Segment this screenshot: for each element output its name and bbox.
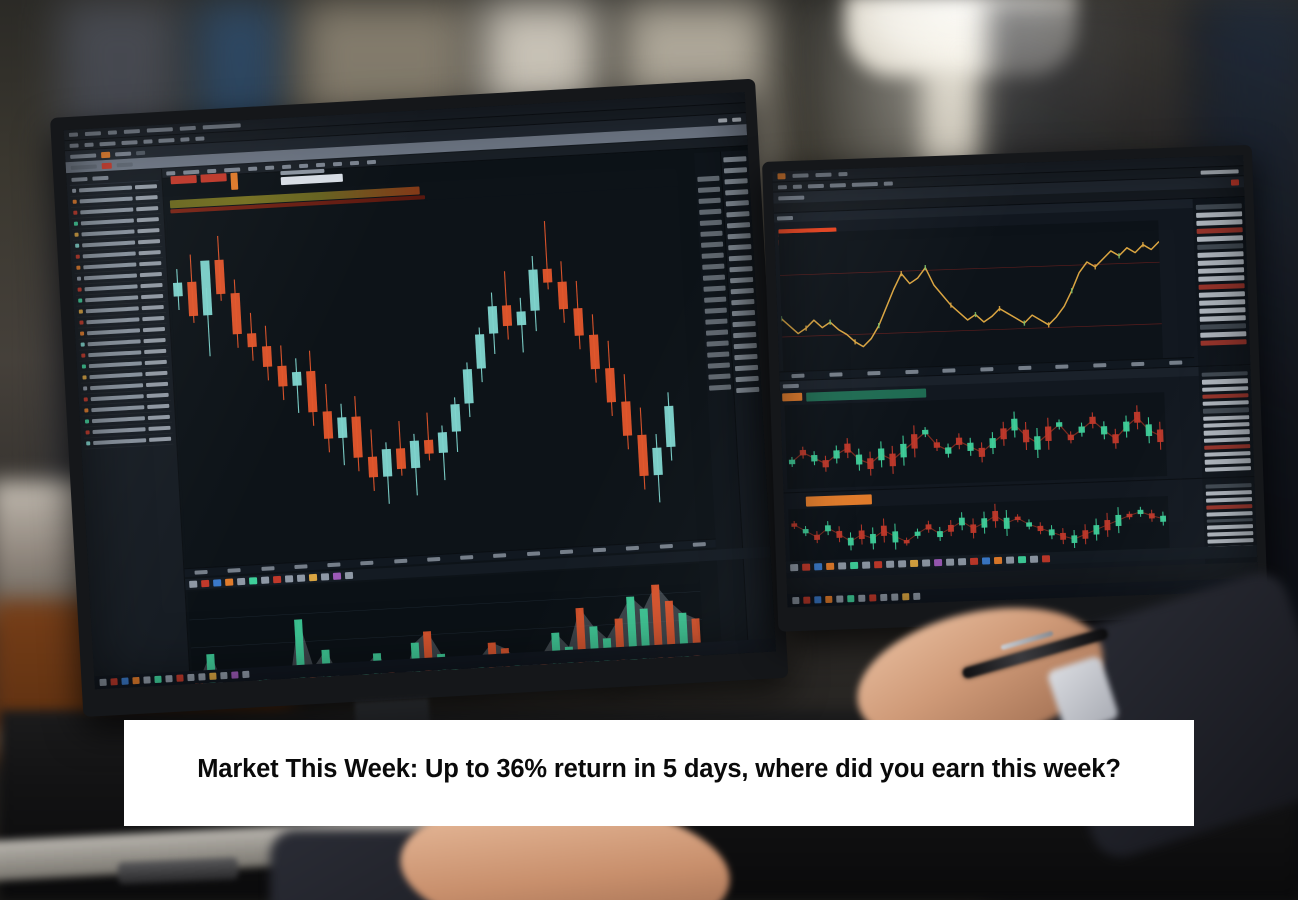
taskbar-icon[interactable] <box>237 578 245 585</box>
taskbar-icon[interactable] <box>143 676 150 683</box>
ladder-row[interactable] <box>1207 531 1253 537</box>
watchlist-status-icon <box>86 441 90 445</box>
time-axis-tick <box>568 687 581 689</box>
price-axis-tick <box>733 332 756 338</box>
toolbar-settings-icon[interactable] <box>195 136 204 140</box>
toolbar-right-icon-4[interactable] <box>830 183 846 188</box>
taskbar-icon[interactable] <box>869 594 876 601</box>
watchlist-symbol <box>83 251 136 258</box>
taskbar-icon[interactable] <box>231 671 238 678</box>
taskbar-icon[interactable] <box>187 674 194 681</box>
toolbar-timeframe-icon[interactable] <box>158 138 174 143</box>
taskbar-icon[interactable] <box>970 557 978 564</box>
price-axis-tick <box>729 266 752 272</box>
price-axis-tick <box>728 233 751 239</box>
price-axis-tick <box>735 365 758 371</box>
ladder-row[interactable] <box>1206 490 1252 496</box>
taskbar-icon[interactable] <box>814 563 822 570</box>
toolbar-open-icon[interactable] <box>84 142 93 146</box>
watchlist-symbol <box>91 405 144 412</box>
taskbar-icon[interactable] <box>220 672 227 679</box>
screen-right[interactable] <box>772 155 1258 607</box>
watchlist-price <box>144 349 166 354</box>
time-axis-tick <box>829 372 842 376</box>
toolbar-right-icon-3[interactable] <box>808 183 824 188</box>
taskbar-icon[interactable] <box>99 679 106 686</box>
quote-readout <box>280 168 343 185</box>
watchlist-price <box>136 195 158 200</box>
taskbar-icon[interactable] <box>982 557 990 564</box>
ladder-row[interactable] <box>1197 251 1243 258</box>
toolbar-right-icon-2[interactable] <box>793 184 802 188</box>
mid-candlestick-plot <box>785 392 1168 489</box>
watchlist-status-icon <box>77 277 81 281</box>
time-axis-tick <box>261 566 274 571</box>
watchlist-symbol <box>91 394 144 401</box>
quote-last-price <box>281 174 343 185</box>
taskbar-icon[interactable] <box>154 676 161 683</box>
screen-left[interactable] <box>64 92 776 689</box>
dom-tick <box>709 384 731 390</box>
watchlist-symbol <box>90 383 143 390</box>
taskbar-icon[interactable] <box>898 560 906 567</box>
time-axis-tick <box>493 553 506 558</box>
ladder-row[interactable] <box>1203 400 1249 406</box>
dom-tick <box>700 231 722 237</box>
taskbar-icon[interactable] <box>1030 555 1038 562</box>
time-axis-tick <box>195 570 208 575</box>
mid-panel-title <box>783 383 799 388</box>
dom-tick <box>701 242 723 248</box>
dom-tick <box>704 297 726 303</box>
taskbar-icon[interactable] <box>309 574 317 581</box>
time-axis-tick <box>1131 362 1144 366</box>
watchlist-status-icon <box>81 353 85 357</box>
price-axis-tick <box>730 277 753 283</box>
ladder-row[interactable] <box>1203 422 1249 428</box>
watchlist-symbol <box>88 350 141 357</box>
watchlist-symbol <box>92 416 145 423</box>
menu-item-help[interactable] <box>180 126 196 131</box>
watchlist-price <box>140 283 162 288</box>
time-axis-tick <box>327 562 340 567</box>
watchlist-status-icon <box>73 200 77 204</box>
ladder-row[interactable] <box>1206 511 1252 517</box>
order-ladder-top[interactable] <box>1193 197 1251 366</box>
watchlist-price <box>148 426 170 431</box>
taskbar-icon[interactable] <box>790 563 798 570</box>
tab-positions[interactable] <box>136 150 145 154</box>
menu-item-view[interactable] <box>85 131 101 136</box>
watchlist-price <box>138 239 160 244</box>
watchlist-status-icon <box>78 298 82 302</box>
taskbar-icon[interactable] <box>803 597 810 604</box>
dom-tick <box>705 308 727 314</box>
chart-tool-tf-5m[interactable] <box>265 165 274 169</box>
taskbar-icon[interactable] <box>913 593 920 600</box>
price-axis-tick <box>731 299 754 305</box>
tab-active-chart[interactable] <box>71 164 97 169</box>
ladder-row[interactable] <box>1205 459 1251 465</box>
menu-item-file[interactable] <box>69 132 78 136</box>
taskbar-icon[interactable] <box>213 579 221 586</box>
watchlist-status-icon <box>84 397 88 401</box>
toolbar-zoom-icon[interactable] <box>180 137 189 141</box>
watchlist-status-icon <box>83 386 87 390</box>
taskbar-icon[interactable] <box>847 595 854 602</box>
taskbar-icon[interactable] <box>825 596 832 603</box>
taskbar-icon[interactable] <box>209 673 216 680</box>
taskbar-icon[interactable] <box>261 576 269 583</box>
price-axis-tick <box>724 167 747 173</box>
trading-terminal-left[interactable] <box>64 92 776 689</box>
ladder-row[interactable] <box>1204 437 1250 443</box>
price-axis-tick <box>723 156 746 162</box>
ladder-row[interactable] <box>1202 393 1248 399</box>
chart-tool-tf-1m[interactable] <box>248 166 257 170</box>
taskbar-icon[interactable] <box>201 580 209 587</box>
watchlist-price <box>148 415 170 420</box>
taskbar-icon[interactable] <box>838 562 846 569</box>
taskbar-icon[interactable] <box>345 572 353 579</box>
taskbar-icon[interactable] <box>1042 555 1050 562</box>
watchlist-price <box>137 228 159 233</box>
ladder-row[interactable] <box>1206 483 1252 489</box>
watchlist-symbol <box>86 317 139 324</box>
ladder-row[interactable] <box>1206 497 1252 503</box>
watchlist-price <box>145 371 167 376</box>
ladder-row[interactable] <box>1207 538 1253 544</box>
taskbar-icon[interactable] <box>836 595 843 602</box>
menu-item-account[interactable] <box>203 123 241 129</box>
time-axis-tick <box>1056 364 1069 368</box>
ladder-row[interactable] <box>1197 243 1243 250</box>
chart-tool-tf-1w[interactable] <box>316 162 325 166</box>
watchlist-symbol <box>88 339 141 346</box>
watchlist-price <box>137 217 159 222</box>
dom-tick <box>708 373 730 379</box>
tab-alert-icon[interactable] <box>101 151 110 157</box>
ladder-row[interactable] <box>1200 331 1246 338</box>
ladder-row[interactable] <box>1197 235 1243 242</box>
ladder-row[interactable] <box>1206 504 1252 510</box>
taskbar-icon[interactable] <box>285 575 293 582</box>
chart-tool-tf-1mo[interactable] <box>333 161 342 165</box>
taskbar-icon[interactable] <box>121 677 128 684</box>
ladder-row[interactable] <box>1204 451 1250 457</box>
dom-tick <box>707 340 729 346</box>
ladder-row[interactable] <box>1200 315 1246 322</box>
taskbar-icon[interactable] <box>198 673 205 680</box>
taskbar-icon[interactable] <box>132 677 139 684</box>
price-axis-tick <box>727 222 750 228</box>
time-axis-tick <box>626 546 639 551</box>
toolbar-right-icon-5[interactable] <box>852 181 878 186</box>
taskbar-icon[interactable] <box>902 593 909 600</box>
watchlist-symbol <box>93 438 146 445</box>
watchlist-symbol <box>81 229 134 236</box>
chart-tool-tf-max[interactable] <box>367 159 376 163</box>
dom-tick <box>706 329 728 335</box>
watchlist-price <box>139 261 161 266</box>
taskbar-icon[interactable] <box>792 597 799 604</box>
watchlist-symbol <box>84 273 137 280</box>
price-axis-tick <box>724 178 747 184</box>
monitor-left <box>50 79 788 717</box>
watchlist-price <box>145 360 167 365</box>
tab-right-close-icon[interactable] <box>1231 179 1239 185</box>
time-axis-tick <box>1093 363 1106 367</box>
ladder-row[interactable] <box>1207 525 1253 531</box>
ladder-row[interactable] <box>1199 307 1245 314</box>
taskbar-icon[interactable] <box>886 560 894 567</box>
watchlist-symbol <box>80 207 133 214</box>
taskbar-icon[interactable] <box>862 561 870 568</box>
taskbar-icon[interactable] <box>874 561 882 568</box>
taskbar-icon[interactable] <box>321 573 329 580</box>
time-axis-tick <box>659 544 672 549</box>
trading-terminal-right[interactable] <box>772 155 1258 607</box>
toolbar-draw-icon[interactable] <box>143 139 152 143</box>
tab-close-icon[interactable] <box>102 162 112 169</box>
time-axis-tick <box>560 549 573 554</box>
watchlist-price <box>140 272 162 277</box>
toolbar-indicator-icon[interactable] <box>121 140 137 145</box>
menu-item-tools[interactable] <box>124 129 140 134</box>
taskbar-icon[interactable] <box>994 556 1002 563</box>
tab-market-watch[interactable] <box>70 153 96 158</box>
toolbar-chart-icon[interactable] <box>99 141 115 146</box>
watchlist-status-icon <box>79 309 83 313</box>
taskbar-icon[interactable] <box>814 596 821 603</box>
ladder-row[interactable] <box>1202 371 1248 377</box>
watchlist-status-icon <box>79 320 83 324</box>
taskbar-icon[interactable] <box>1006 556 1014 563</box>
taskbar-icon[interactable] <box>249 577 257 584</box>
watchlist-status-icon <box>75 244 79 248</box>
app-logo-icon <box>777 173 785 179</box>
order-buttons[interactable] <box>170 173 238 194</box>
taskbar-icon[interactable] <box>922 559 930 566</box>
chart-area-left[interactable] <box>162 136 776 684</box>
taskbar-icon[interactable] <box>273 576 281 583</box>
watchlist-symbol <box>83 262 136 269</box>
taskbar-icon[interactable] <box>110 678 117 685</box>
dom-tick <box>699 209 721 215</box>
ladder-row[interactable] <box>1201 339 1247 346</box>
taskbar-icon[interactable] <box>189 581 197 588</box>
chart-tool-type-icon[interactable] <box>224 167 240 172</box>
ladder-row[interactable] <box>1197 227 1243 234</box>
watchlist-price <box>149 437 171 442</box>
time-axis-tick <box>693 542 706 547</box>
toolbar-right-icon-6[interactable] <box>884 181 893 185</box>
ladder-row[interactable] <box>1198 275 1244 282</box>
chart-tool-tf-1d[interactable] <box>299 163 308 167</box>
price-axis-tick <box>736 376 759 382</box>
taskbar-icon[interactable] <box>1018 556 1026 563</box>
tab-orders[interactable] <box>115 151 131 156</box>
line-chart-panel[interactable] <box>774 196 1251 380</box>
chart-tool-fib-icon[interactable] <box>207 168 216 172</box>
chart-tool-tf-1h[interactable] <box>282 164 291 168</box>
watchlist-price <box>143 338 165 343</box>
watchlist-status-icon <box>81 342 85 346</box>
ladder-row[interactable] <box>1198 267 1244 274</box>
price-axis-tick <box>732 310 755 316</box>
ladder-row[interactable] <box>1204 444 1250 450</box>
ladder-row[interactable] <box>1205 466 1251 472</box>
monitor-right <box>762 145 1268 632</box>
ladder-row[interactable] <box>1199 291 1245 298</box>
line-panel-title <box>777 215 793 220</box>
ladder-row[interactable] <box>1198 259 1244 266</box>
taskbar-icon[interactable] <box>934 558 942 565</box>
taskbar-icon[interactable] <box>176 674 183 681</box>
time-axis-tick <box>460 555 473 560</box>
watchlist-price <box>143 327 165 332</box>
watchlist-symbol <box>89 372 142 379</box>
taskbar-icon[interactable] <box>910 559 918 566</box>
watchlist-price <box>136 206 158 211</box>
ladder-row[interactable] <box>1196 211 1242 218</box>
taskbar-icon[interactable] <box>165 675 172 682</box>
bottom-panel-banner <box>806 494 872 506</box>
taskbar-icon[interactable] <box>802 563 810 570</box>
watchlist-price <box>146 382 168 387</box>
buy-button[interactable] <box>200 173 226 182</box>
time-axis-tick <box>867 371 880 375</box>
dom-tick <box>707 351 729 357</box>
ladder-row[interactable] <box>1204 429 1250 435</box>
time-axis-tick <box>361 561 374 566</box>
time-axis-tick <box>427 557 440 562</box>
watchlist-status-icon <box>72 189 76 193</box>
watchlist-price <box>147 404 169 409</box>
tab-secondary[interactable] <box>117 162 133 167</box>
watchlist-status-icon <box>82 375 86 379</box>
chart-tool-tf-ytd[interactable] <box>350 160 359 164</box>
watchlist-price <box>135 184 157 189</box>
ladder-row[interactable] <box>1207 518 1253 524</box>
dom-tick <box>703 286 725 292</box>
ladder-row[interactable] <box>1202 378 1248 384</box>
ladder-row[interactable] <box>1199 299 1245 306</box>
order-ladder-mid[interactable] <box>1198 365 1254 478</box>
watchlist-price <box>142 305 164 310</box>
account-balance-readout <box>1201 169 1239 174</box>
menu-item-window[interactable] <box>147 127 173 132</box>
watchlist-symbol <box>81 218 134 225</box>
ladder-row[interactable] <box>1203 415 1249 421</box>
tab-maximize-icon[interactable] <box>732 117 741 121</box>
watchlist-symbol <box>85 295 138 302</box>
watchlist-status-icon <box>85 430 89 434</box>
time-axis-tick <box>943 368 956 372</box>
watchlist-symbol <box>79 186 132 193</box>
ladder-row[interactable] <box>1199 283 1245 290</box>
caption-banner: Market This Week: Up to 36% return in 5 … <box>124 720 1194 826</box>
taskbar-icon[interactable] <box>946 558 954 565</box>
time-axis-tick <box>980 367 993 371</box>
toolbar-right-icon-1[interactable] <box>778 185 787 189</box>
price-axis-tick <box>734 354 757 360</box>
time-axis-tick <box>527 551 540 556</box>
watchlist-symbol <box>85 284 138 291</box>
watchlist-col-symbol <box>71 177 87 182</box>
price-axis-tick <box>732 321 755 327</box>
candlestick-panel-mid[interactable] <box>780 364 1255 492</box>
watchlist-status-icon <box>74 233 78 237</box>
price-axis-tick <box>725 189 748 195</box>
tab-right-watch[interactable] <box>778 195 804 200</box>
menu-item-tools-right[interactable] <box>838 172 847 176</box>
ladder-row[interactable] <box>1202 386 1248 392</box>
watchlist-status-icon <box>85 419 89 423</box>
taskbar-icon[interactable] <box>850 561 858 568</box>
taskbar-icon[interactable] <box>958 558 966 565</box>
dom-tick <box>703 275 725 281</box>
caption-text: Market This Week: Up to 36% return in 5 … <box>197 753 1121 785</box>
watchlist-status-icon <box>78 288 82 292</box>
price-axis-tick <box>734 343 757 349</box>
watchlist-status-icon <box>82 364 86 368</box>
sell-button[interactable] <box>170 175 196 184</box>
ladder-row[interactable] <box>1200 323 1246 330</box>
taskbar-icon[interactable] <box>225 579 233 586</box>
taskbar-icon[interactable] <box>242 671 249 678</box>
taskbar-icon[interactable] <box>826 562 834 569</box>
price-axis-tick <box>731 288 754 294</box>
watchlist-symbol <box>92 427 145 434</box>
chart-tool-trend-icon[interactable] <box>183 169 199 174</box>
watchlist-status-icon <box>74 222 78 226</box>
price-axis-tick <box>726 211 749 217</box>
dom-tick <box>708 362 730 368</box>
taskbar-icon[interactable] <box>880 594 887 601</box>
ladder-row[interactable] <box>1196 203 1242 210</box>
taskbar-icon[interactable] <box>891 594 898 601</box>
tab-minimize-icon[interactable] <box>718 118 727 122</box>
watchlist-price <box>141 294 163 299</box>
ladder-row[interactable] <box>1203 408 1249 414</box>
chart-tool-cursor-icon[interactable] <box>166 171 175 175</box>
watchlist-symbol <box>87 328 140 335</box>
menu-item-view-right[interactable] <box>815 173 831 178</box>
taskbar-icon[interactable] <box>858 595 865 602</box>
time-axis-tick <box>593 548 606 553</box>
ladder-row[interactable] <box>1196 219 1242 226</box>
time-axis-tick <box>1018 366 1031 370</box>
menu-item-insert[interactable] <box>108 130 117 134</box>
line-plot <box>779 220 1164 373</box>
watchlist-price <box>139 250 161 255</box>
price-axis-tick <box>729 255 752 261</box>
mid-panel-badge <box>782 393 802 402</box>
price-axis-tick <box>728 244 751 250</box>
time-axis-tick <box>905 370 918 374</box>
taskbar-icon[interactable] <box>333 572 341 579</box>
watchlist-status-icon <box>76 255 80 259</box>
toolbar-new-icon[interactable] <box>69 143 78 147</box>
watchlist-status-icon <box>84 408 88 412</box>
menu-item-file-right[interactable] <box>792 173 808 178</box>
watchlist-status-icon <box>73 211 77 215</box>
taskbar-icon[interactable] <box>297 574 305 581</box>
candlestick-plot <box>167 186 698 570</box>
watchlist-symbol <box>82 240 135 247</box>
position-marker-icon <box>230 173 238 190</box>
